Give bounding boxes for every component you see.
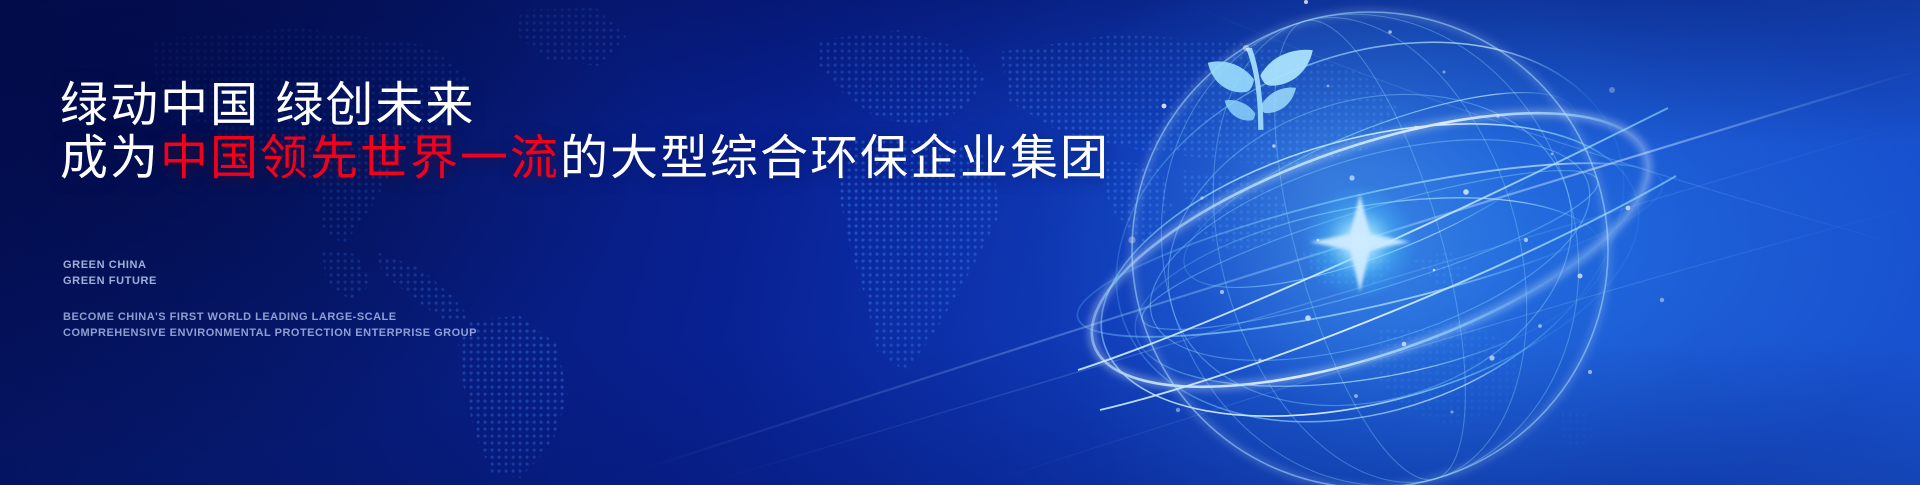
globe-sphere	[1132, 12, 1608, 485]
headline-line-2: 成为中国领先世界一流的大型综合环保企业集团	[60, 131, 1110, 187]
headline-suffix: 的大型综合环保企业集团	[560, 132, 1110, 185]
globe-glow	[1020, 0, 1720, 485]
sprout-leaf-icon	[1208, 48, 1313, 130]
globe-outline	[1132, 12, 1608, 485]
globe-parallels	[1125, 46, 1615, 453]
slogan-english-line-2: GREEN FUTURE	[63, 274, 157, 290]
globe-orbit-rings	[1060, 0, 1680, 485]
tagline-english: BECOME CHINA'S FIRST WORLD LEADING LARGE…	[63, 310, 477, 342]
banner-copy: 绿动中国 绿创未来 成为中国领先世界一流的大型综合环保企业集团 GREEN CH…	[60, 0, 1060, 485]
headline-line-1: 绿动中国 绿创未来	[60, 78, 475, 134]
globe-particles	[1128, 0, 1664, 414]
globe-graphic	[1060, 0, 1680, 485]
headline-prefix: 成为	[60, 132, 160, 185]
slogan-english: GREEN CHINA GREEN FUTURE	[63, 258, 157, 290]
slogan-english-line-1: GREEN CHINA	[63, 258, 157, 274]
globe-svg	[1060, 0, 1680, 485]
tagline-english-line-1: BECOME CHINA'S FIRST WORLD LEADING LARGE…	[63, 310, 477, 326]
headline-line-1-text: 绿动中国 绿创未来	[60, 79, 475, 132]
globe-meridians	[1106, 0, 1633, 485]
hero-banner: 绿动中国 绿创未来 成为中国领先世界一流的大型综合环保企业集团 GREEN CH…	[0, 0, 1920, 485]
headline-highlight: 中国领先世界一流	[160, 132, 560, 185]
globe-sweep-arcs	[1078, 108, 1676, 410]
tagline-english-line-2: COMPREHENSIVE ENVIRONMENTAL PROTECTION E…	[63, 326, 477, 342]
star-burst-highlight	[1302, 184, 1418, 300]
